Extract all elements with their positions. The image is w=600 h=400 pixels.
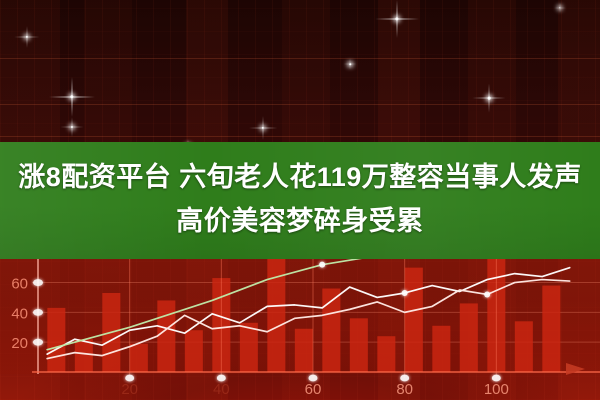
y-tick-label: 40: [11, 305, 28, 322]
x-tick-label: 60: [305, 381, 322, 398]
x-tick-label: 100: [484, 381, 509, 398]
x-tick-label: 20: [121, 381, 138, 398]
y-tick-label: 20: [11, 335, 28, 352]
headline-line-1: 涨8配资平台 六旬老人花119万整容当事人发声: [0, 155, 600, 199]
x-tick-label: 40: [213, 381, 230, 398]
headline-line-2: 高价美容梦碎身受累: [0, 199, 600, 243]
poster-canvas: 2040608010020406080100 涨8配资平台 六旬老人花119万整…: [0, 0, 600, 400]
y-tick-label: 60: [11, 276, 28, 293]
x-tick-label: 80: [396, 381, 413, 398]
headline-text: 涨8配资平台 六旬老人花119万整容当事人发声 高价美容梦碎身受累: [0, 155, 600, 243]
